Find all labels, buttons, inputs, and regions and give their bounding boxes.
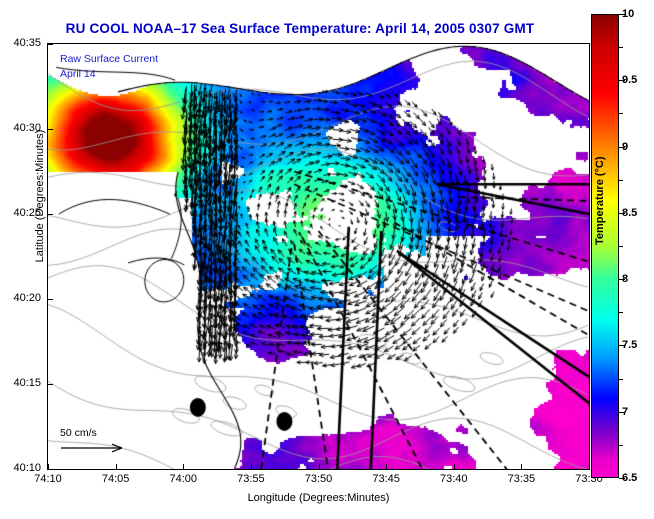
colorbar-tick-label: 10: [622, 8, 634, 20]
y-tick-label: 40:35: [0, 37, 41, 49]
colorbar-tick-label: 7: [622, 406, 628, 418]
colorbar-tick-label: 8.5: [622, 207, 637, 219]
colorbar-minor-tick: [619, 379, 623, 380]
x-tick-label: 73:40: [424, 473, 484, 485]
sst-map-plot[interactable]: Raw Surface Current April 14 50 cm/s: [47, 43, 590, 470]
x-axis-title: Longitude (Degrees:Minutes): [47, 492, 590, 504]
annotation-line-2: April 14: [60, 68, 96, 80]
colorbar-minor-tick: [619, 180, 623, 181]
x-tick-label: 73:35: [491, 473, 551, 485]
colorbar-minor-tick: [619, 47, 623, 48]
y-tick-label: 40:10: [0, 462, 41, 474]
vector-scale-bar: 50 cm/s: [60, 427, 130, 458]
colorbar-title: Temperature (°C): [594, 65, 606, 245]
colorbar-minor-tick: [619, 312, 623, 313]
x-tick-label: 74:00: [153, 473, 213, 485]
x-tick-label: 73:50: [289, 473, 349, 485]
y-tick-label: 40:15: [0, 377, 41, 389]
x-tick-label: 73:55: [221, 473, 281, 485]
colorbar-tick-label: 8: [622, 273, 628, 285]
sst-raster-canvas: [48, 44, 589, 469]
annotation-line-1: Raw Surface Current: [60, 53, 158, 65]
x-tick-label: 74:05: [86, 473, 146, 485]
colorbar-tick-label: 7.5: [622, 339, 637, 351]
colorbar-tick-label: 6.5: [622, 472, 637, 484]
colorbar-minor-tick: [619, 113, 623, 114]
y-axis-title: Latitude (Degrees:Minutes): [34, 96, 46, 296]
colorbar-tick-label: 9: [622, 141, 628, 153]
x-tick-label: 74:10: [18, 473, 78, 485]
scale-bar-label: 50 cm/s: [60, 427, 130, 439]
colorbar-minor-tick: [619, 445, 623, 446]
current-annotation: Raw Surface Current April 14: [60, 52, 158, 82]
page-title: RU COOL NOAA–17 Sea Surface Temperature:…: [0, 21, 600, 36]
colorbar-tick-label: 9.5: [622, 74, 637, 86]
colorbar-minor-tick: [619, 246, 623, 247]
x-tick-label: 73:45: [356, 473, 416, 485]
scale-arrow-icon: [60, 441, 130, 455]
